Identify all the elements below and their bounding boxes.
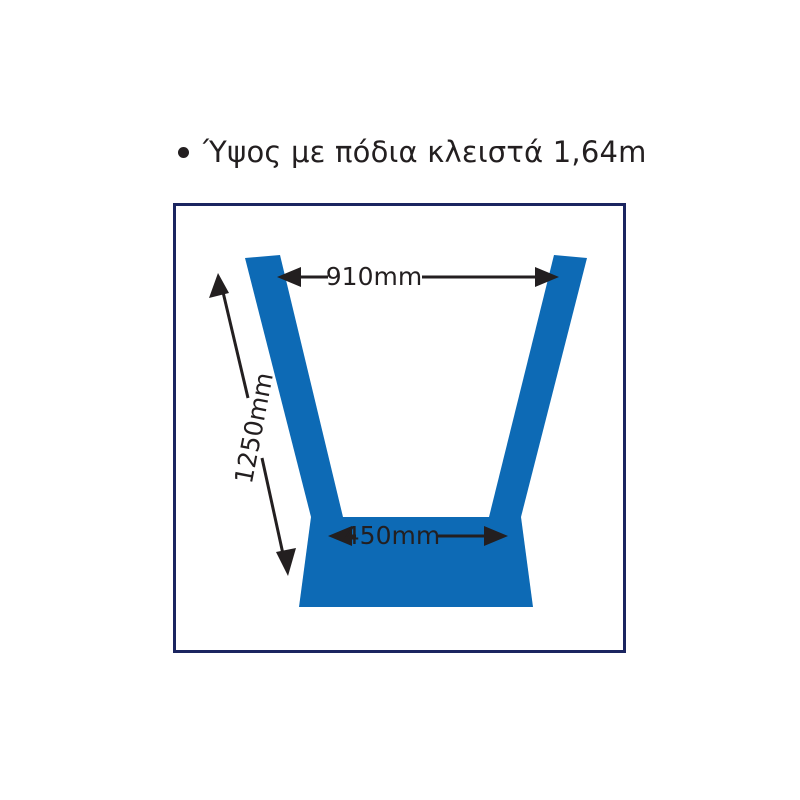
diagram-frame: 910mm 450mm 1250mm — [173, 203, 626, 653]
u-shape-trestle-icon — [245, 255, 587, 607]
bottom-dimension-label: 450mm — [344, 523, 440, 548]
side-arrow-upper-line — [223, 292, 248, 398]
diagram-page: Ύψος με πόδια κλειστά 1,64m — [0, 0, 800, 800]
bullet-dot-icon — [178, 147, 189, 158]
caption-row: Ύψος με πόδια κλειστά 1,64m — [178, 138, 647, 167]
side-arrow-upper-head — [209, 273, 229, 298]
side-arrow-lower-line — [262, 458, 283, 554]
side-arrow-lower-head — [276, 548, 296, 576]
caption-text: Ύψος με πόδια κλειστά 1,64m — [203, 138, 647, 167]
top-dimension-label: 910mm — [326, 264, 422, 289]
right-leg-shape — [489, 255, 587, 517]
